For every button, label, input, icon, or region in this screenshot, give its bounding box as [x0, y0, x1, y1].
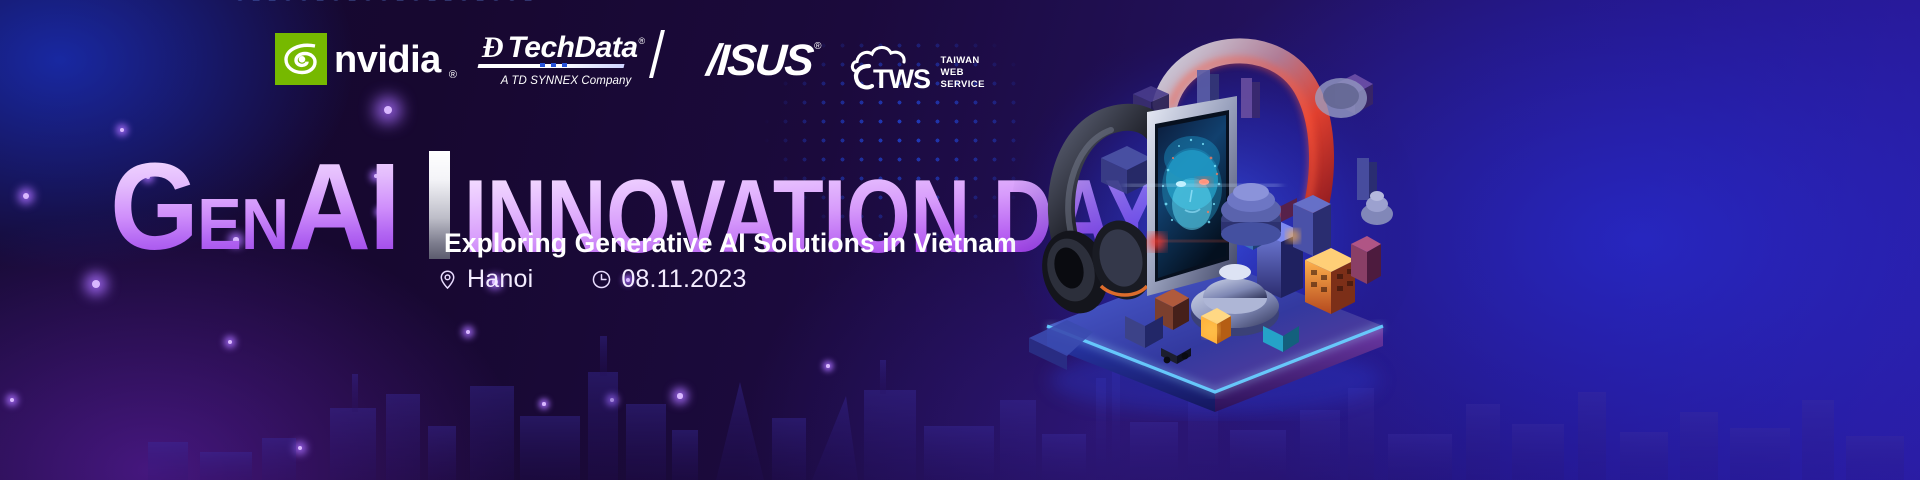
asus-registered-mark: ® — [814, 41, 821, 52]
city-skyline-silhouette — [0, 330, 1920, 480]
binary-column: 1 0 0 1 0 1 1 0 1 0 0 1 0 1 0 0 1 1 0 — [232, 0, 536, 8]
techdata-wordmark: TechData — [508, 33, 638, 63]
location-pin-icon — [437, 269, 458, 290]
techdata-registered-mark: ® — [639, 36, 646, 46]
event-meta-row: Hanoi 08.11.2023 — [437, 262, 747, 296]
glow-particle — [120, 128, 125, 133]
nvidia-registered-mark: ® — [449, 69, 457, 81]
techdata-lockup: Đ TechData ® — [482, 33, 650, 66]
logo-tws[interactable]: TWS TAIWAN WEB SERVICE — [849, 41, 984, 93]
nvidia-wordmark: nVIDIA — [334, 41, 441, 79]
glow-particle — [826, 364, 830, 368]
genai-letter-g: G — [110, 155, 197, 261]
clock-icon — [591, 269, 612, 290]
glow-particle — [466, 330, 470, 334]
event-banner: 0 0 0 1 0 0 0 1 0 1 0 0 1 0 0 1 0 1 01 0… — [0, 0, 1920, 480]
glow-particle — [23, 193, 29, 199]
meta-date-label: 08.11.2023 — [621, 265, 746, 294]
binary-column: 0 0 0 1 0 0 0 1 0 1 0 0 1 0 0 1 0 1 0 — [34, 0, 319, 3]
techdata-monogram: Đ — [482, 33, 504, 63]
glow-particle — [677, 393, 682, 398]
genai-brand-mark: G EN AI — [110, 155, 399, 261]
glow-particle — [228, 340, 232, 344]
glow-particle — [384, 106, 393, 115]
techdata-slash-rule — [649, 30, 665, 78]
techdata-tagline: A TD SYNNEX Company — [501, 75, 632, 87]
techdata-dot-accents — [540, 63, 567, 67]
nvidia-wordmark-text: nVIDIA — [334, 39, 441, 81]
logo-asus[interactable]: /ISUS ® — [707, 39, 819, 83]
glow-particle — [610, 398, 614, 402]
meta-date: 08.11.2023 — [591, 265, 746, 294]
nvidia-eye-icon — [275, 33, 327, 85]
glow-particle — [92, 280, 100, 288]
genai-letters-en: EN — [197, 195, 288, 257]
logo-techdata[interactable]: Đ TechData ® A TD SYNNEX Company — [482, 33, 650, 87]
event-subtitle: Exploring Generative AI Solutions in Vie… — [444, 228, 1017, 259]
meta-location-label: Hanoi — [467, 265, 533, 294]
asus-wordmark: /ISUS — [706, 39, 814, 83]
logo-nvidia[interactable]: nVIDIA ® — [275, 33, 456, 85]
glow-particle — [542, 402, 546, 406]
glow-particle — [10, 398, 14, 402]
partner-logo-row: nVIDIA ® Đ TechData ® A TD SYNNEX Compan… — [275, 33, 985, 99]
tws-service-lines: TAIWAN WEB SERVICE — [940, 55, 984, 91]
meta-location: Hanoi — [437, 265, 533, 294]
cloud-tws-icon: TWS — [849, 41, 935, 93]
svg-text:TWS: TWS — [873, 64, 930, 93]
genai-letters-ai: AI — [288, 155, 399, 261]
glow-particle — [298, 446, 302, 450]
